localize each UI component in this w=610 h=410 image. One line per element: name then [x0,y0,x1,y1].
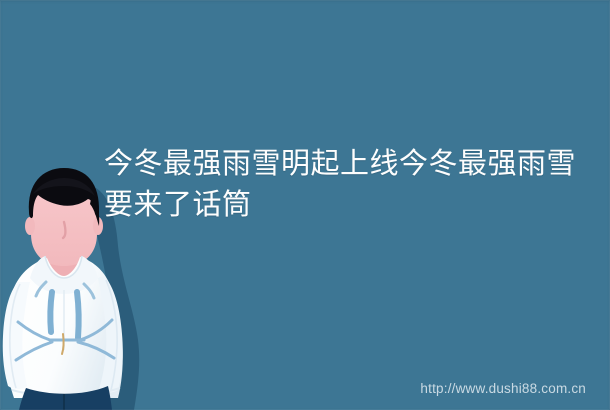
hoodie [3,256,123,398]
ear-left [25,217,35,235]
watermark-url: http://www.dushi88.com.cn [420,381,586,396]
drawstring-right [77,292,79,338]
headline-text: 今冬最强雨雪明起上线今冬最强雨雪要来了话筒 [104,144,584,226]
image-card: 今冬最强雨雪明起上线今冬最强雨雪要来了话筒 http://www.dushi88… [0,0,610,410]
drawstring-left [50,292,52,332]
